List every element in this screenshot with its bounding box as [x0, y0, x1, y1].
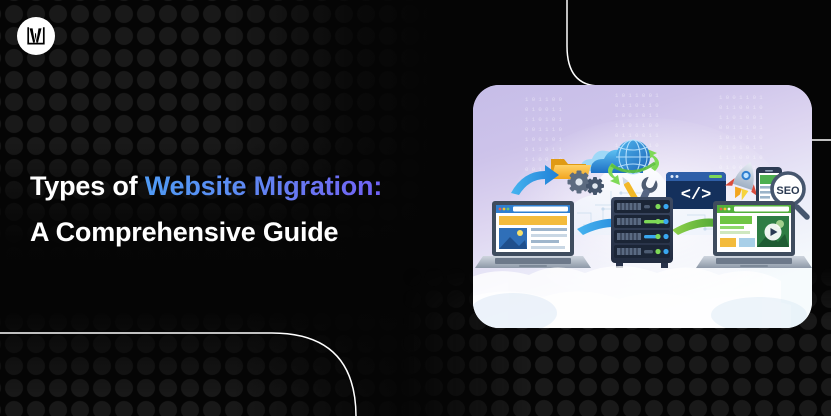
migration-illustration-svg: 1 0 1 1 0 00 1 0 0 1 1 1 1 0 1 0 10 0 1 … — [473, 85, 812, 328]
svg-text:1 0 0 1 0 1 1: 1 0 0 1 0 1 1 — [615, 112, 659, 119]
svg-text:0 0 1 1 1 0: 0 0 1 1 1 0 — [525, 126, 563, 133]
svg-text:1 0 0 1 1 0 1: 1 0 0 1 1 0 1 — [719, 94, 763, 101]
page-title: Types of Website Migration: A Comprehens… — [30, 163, 460, 255]
svg-text:1 0 1 1 0 0: 1 0 1 1 0 0 — [525, 96, 563, 103]
svg-text:1 1 0 1 1 0 0: 1 1 0 1 1 0 0 — [615, 122, 659, 129]
title-accent-part: Website Migration: — [145, 171, 382, 201]
code-window-label: </> — [681, 186, 712, 205]
svg-text:0 0 1 1 1 0 1: 0 0 1 1 1 0 1 — [719, 124, 763, 131]
svg-text:0 1 1 0 1 1 0: 0 1 1 0 1 1 0 — [615, 102, 659, 109]
site-logo[interactable] — [17, 17, 55, 55]
svg-text:0 1 1 0 1 1: 0 1 1 0 1 1 — [525, 146, 563, 153]
svg-text:1 1 1 0 0 1 0: 1 1 1 0 0 1 0 — [719, 154, 763, 161]
title-second-line: A Comprehensive Guide — [30, 209, 460, 255]
source-laptop — [475, 201, 591, 268]
svg-text:1 0 0 1 0 1: 1 0 0 1 0 1 — [525, 136, 563, 143]
hero-illustration: 1 0 1 1 0 00 1 0 0 1 1 1 1 0 1 0 10 0 1 … — [473, 85, 812, 328]
svg-text:1 0 1 0 1 1 0: 1 0 1 0 1 1 0 — [719, 134, 763, 141]
svg-text:1 0 1 1 0 0 1: 1 0 1 1 0 0 1 — [615, 92, 659, 99]
svg-text:0 1 0 0 1 1: 0 1 0 0 1 1 — [525, 106, 563, 113]
svg-text:1 1 0 1 0 1: 1 1 0 1 0 1 — [525, 116, 563, 123]
w-monogram-icon — [23, 23, 49, 49]
svg-text:0 1 0 1 0 1 1: 0 1 0 1 0 1 1 — [719, 144, 763, 151]
svg-text:0 1 1 0 0 1 0: 0 1 1 0 0 1 0 — [719, 104, 763, 111]
server-rack — [611, 197, 673, 268]
ground-fog — [473, 266, 807, 328]
target-laptop — [696, 201, 812, 268]
title-plain-part: Types of — [30, 171, 145, 201]
svg-text:0 1 1 0 0 1 1: 0 1 1 0 0 1 1 — [615, 132, 659, 139]
seo-badge-label: SEO — [776, 185, 800, 197]
svg-text:1 1 0 1 0 0 1: 1 1 0 1 0 0 1 — [719, 114, 763, 121]
blog-banner: Types of Website Migration: A Comprehens… — [0, 0, 831, 416]
